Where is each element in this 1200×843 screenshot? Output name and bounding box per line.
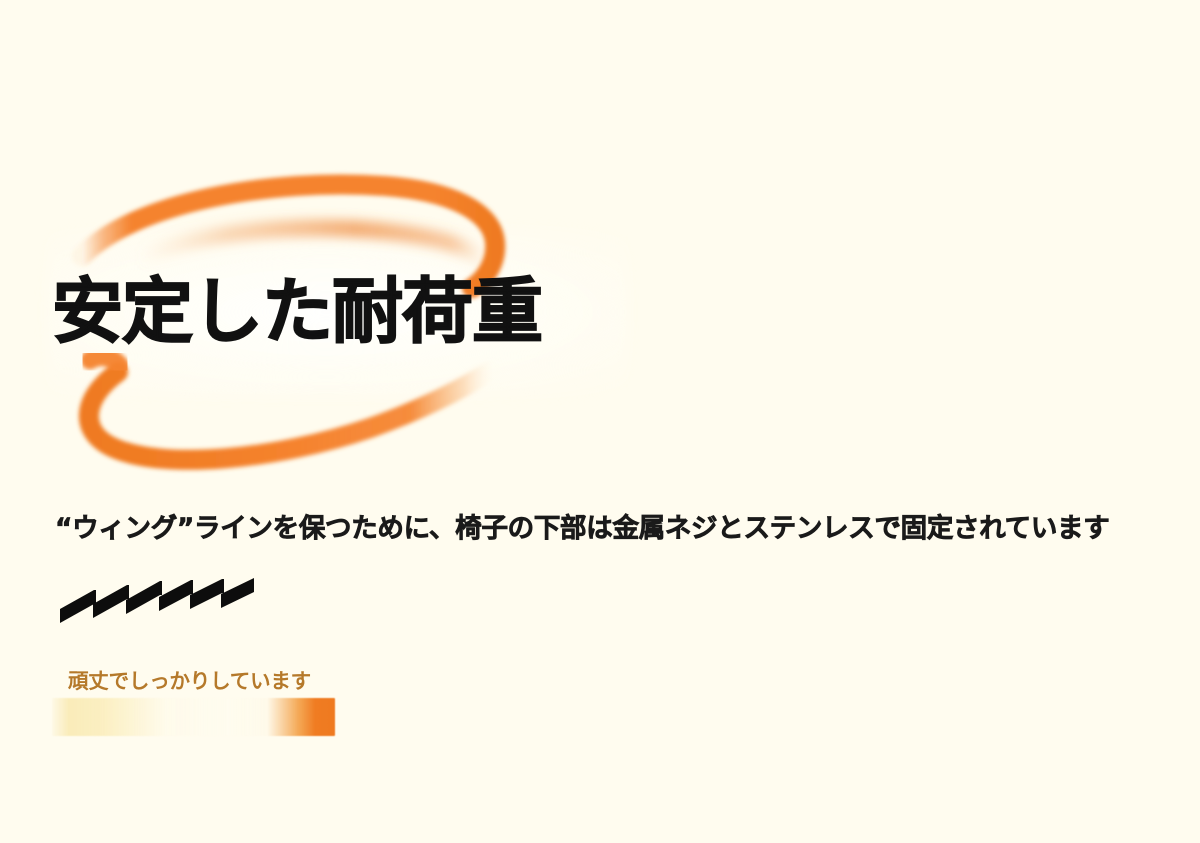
hero-subtitle: “ウィング”ラインを保つために、椅子の下部は金属ネジとステンレスで固定されていま… — [55, 512, 1109, 545]
caption-label: 頑丈でしっかりしています — [68, 668, 311, 695]
page-title: 安定した耐荷重 — [52, 276, 542, 347]
promo-hero-slide: 安定した耐荷重 “ウィング”ラインを保つために、椅子の下部は金属ネジとステンレス… — [0, 0, 1200, 843]
caption-highlight-group: 頑丈でしっかりしています — [52, 668, 342, 740]
zigzag-divider-icon — [58, 578, 268, 624]
caption-highlight-bar — [52, 698, 335, 736]
